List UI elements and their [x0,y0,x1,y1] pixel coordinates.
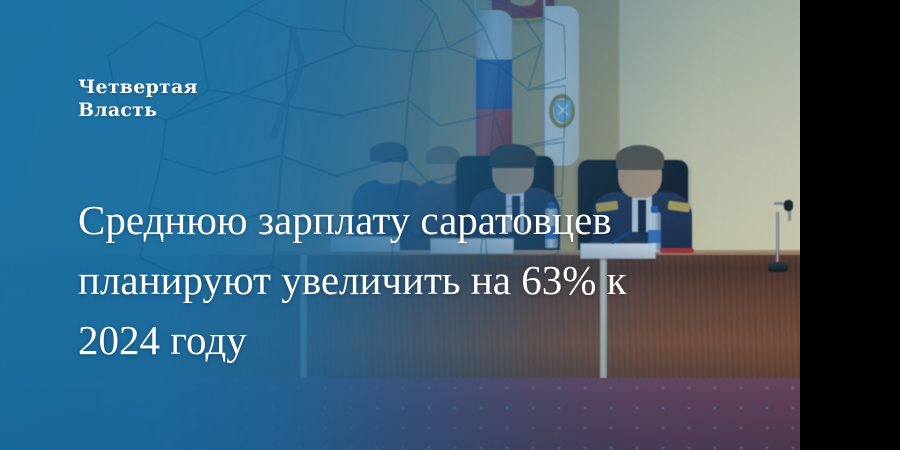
site-logo[interactable]: Четвертая Власть [78,76,198,122]
article-share-card: Четвертая Власть Среднюю зарплату сарато… [0,0,900,450]
page-title: Среднюю зарплату саратовцев планируют ув… [78,190,678,370]
right-black-bar [800,0,900,450]
site-logo-text: Четвертая Власть [78,76,198,121]
